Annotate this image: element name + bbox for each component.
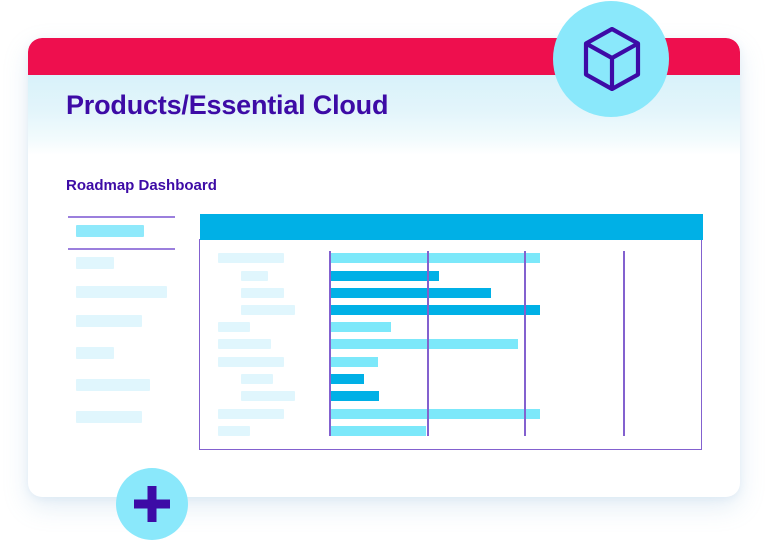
gridline-2 bbox=[524, 251, 526, 436]
task-label bbox=[218, 253, 284, 263]
task-bar[interactable] bbox=[329, 426, 426, 436]
task-label bbox=[241, 305, 295, 315]
sidebar-item-3[interactable] bbox=[76, 315, 142, 327]
task-label bbox=[218, 322, 250, 332]
gantt-row-5[interactable] bbox=[199, 320, 702, 335]
task-bar[interactable] bbox=[329, 253, 540, 263]
task-label bbox=[241, 271, 268, 281]
task-label bbox=[218, 426, 250, 436]
gantt-toolbar[interactable] bbox=[200, 214, 703, 240]
sidebar-item-6[interactable] bbox=[76, 411, 142, 423]
task-bar[interactable] bbox=[329, 322, 391, 332]
task-bar[interactable] bbox=[329, 374, 364, 384]
sidebar-item-1[interactable] bbox=[76, 257, 114, 269]
gantt-row-3[interactable] bbox=[199, 286, 702, 301]
sidebar-item-5[interactable] bbox=[76, 379, 150, 391]
screenshot-root: Products/Essential Cloud Roadmap Dashboa… bbox=[0, 0, 768, 555]
task-label bbox=[241, 288, 284, 298]
gantt-row-1[interactable] bbox=[199, 251, 702, 266]
gantt-row-6[interactable] bbox=[199, 337, 702, 352]
page-title: Products/Essential Cloud bbox=[66, 90, 388, 121]
task-label bbox=[241, 391, 295, 401]
task-label bbox=[241, 374, 273, 384]
gantt-row-8[interactable] bbox=[199, 372, 702, 387]
sidebar-item-4[interactable] bbox=[76, 347, 114, 359]
gridline-3 bbox=[623, 251, 625, 436]
gridline-1 bbox=[427, 251, 429, 436]
gantt-row-4[interactable] bbox=[199, 303, 702, 318]
sidebar-item-2[interactable] bbox=[76, 286, 167, 298]
gantt-row-11[interactable] bbox=[199, 424, 702, 439]
task-bar[interactable] bbox=[329, 391, 379, 401]
add-button-badge[interactable] bbox=[116, 468, 188, 540]
task-bar[interactable] bbox=[329, 409, 540, 419]
task-bar[interactable] bbox=[329, 288, 491, 298]
gantt-row-9[interactable] bbox=[199, 389, 702, 404]
task-bar[interactable] bbox=[329, 339, 518, 349]
gantt-row-10[interactable] bbox=[199, 407, 702, 422]
task-bar[interactable] bbox=[329, 357, 378, 367]
sidebar-divider-1 bbox=[68, 248, 175, 250]
cube-badge[interactable] bbox=[553, 1, 669, 117]
gantt-row-7[interactable] bbox=[199, 355, 702, 370]
task-label bbox=[218, 409, 284, 419]
task-label bbox=[218, 339, 271, 349]
task-bar[interactable] bbox=[329, 305, 540, 315]
task-label bbox=[218, 357, 284, 367]
section-heading: Roadmap Dashboard bbox=[66, 177, 217, 194]
gantt-chart-body bbox=[199, 239, 702, 450]
roadmap-gantt-panel bbox=[199, 214, 704, 452]
sidebar-item-active[interactable] bbox=[76, 225, 144, 237]
task-bar[interactable] bbox=[329, 271, 439, 281]
gantt-row-2[interactable] bbox=[199, 269, 702, 284]
sidebar bbox=[68, 216, 180, 461]
sidebar-divider-0 bbox=[68, 216, 175, 218]
gridline-0 bbox=[329, 251, 331, 436]
